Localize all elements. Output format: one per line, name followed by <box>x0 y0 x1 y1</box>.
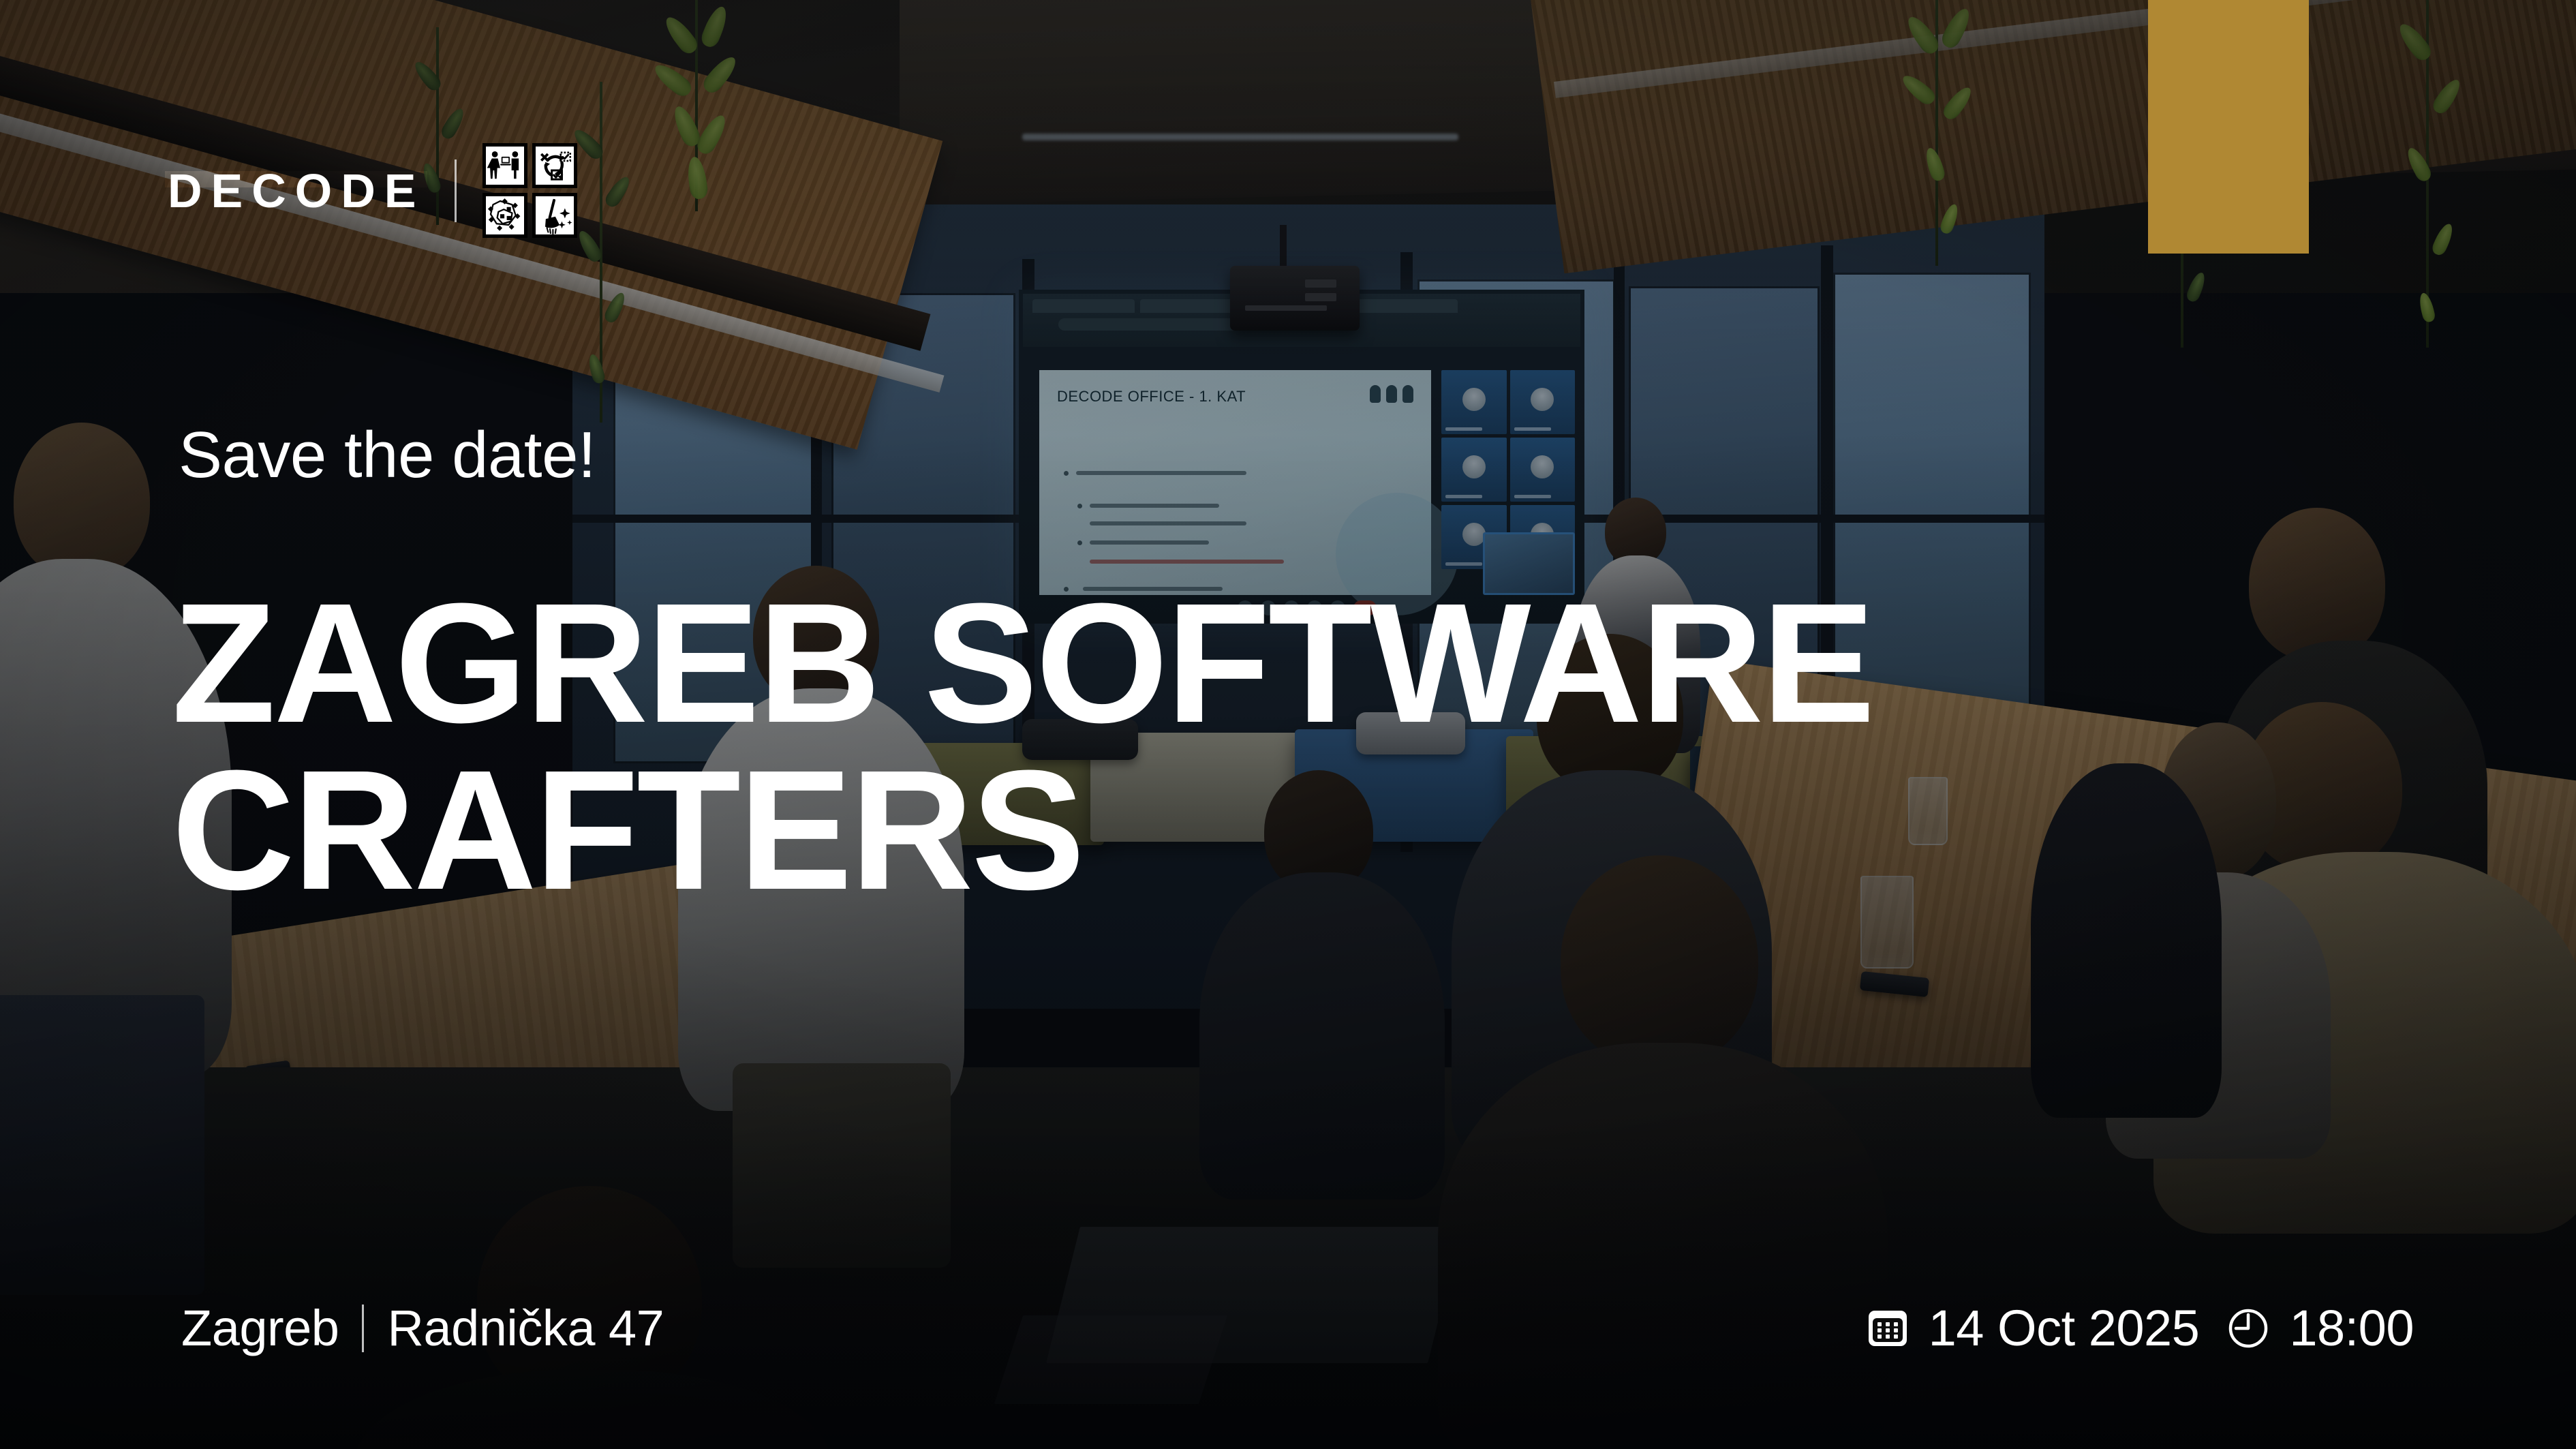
broom-sparkle-icon <box>532 193 577 238</box>
logo-icon-grid <box>482 143 577 238</box>
logo-divider <box>455 159 457 222</box>
slide-title: DECODE OFFICE - 1. KAT <box>1057 388 1246 406</box>
location-group: Zagreb Radnička 47 <box>181 1299 664 1357</box>
event-details-bar: Zagreb Radnička 47 <box>0 1299 2576 1360</box>
slide-avatars <box>1370 385 1413 403</box>
page-title: ZAGREB SOFTWARE CRAFTERS <box>172 579 1873 913</box>
title-line-1: ZAGREB SOFTWARE <box>172 579 1873 746</box>
drinking-glass <box>1908 777 1948 845</box>
city-label: Zagreb <box>181 1299 339 1357</box>
presentation-slide: DECODE OFFICE - 1. KAT <box>1039 370 1431 595</box>
date-group: 14 Oct 2025 <box>1866 1299 2200 1357</box>
calendar-icon <box>1866 1307 1910 1350</box>
event-poster: DECODE OFFICE - 1. KAT <box>0 0 2576 1449</box>
address-label: Radnička 47 <box>387 1299 664 1357</box>
ceiling-light-strip <box>1022 134 1458 140</box>
accent-bar <box>2148 0 2309 254</box>
location-divider <box>362 1305 364 1352</box>
people-with-laptop-icon <box>482 143 527 188</box>
clock-icon <box>2226 1307 2270 1350</box>
projector-mount <box>1280 225 1287 270</box>
event-date: 14 Oct 2025 <box>1929 1299 2200 1357</box>
event-time: 18:00 <box>2289 1299 2414 1357</box>
kicker-text: Save the date! <box>179 423 596 488</box>
datetime-group: 14 Oct 2025 18:00 <box>1866 1299 2414 1357</box>
polygon-cluster-icon <box>482 193 527 238</box>
time-group: 18:00 <box>2226 1299 2414 1357</box>
ceiling-projector <box>1230 266 1360 331</box>
decode-logo[interactable]: DECODE <box>168 143 577 238</box>
logo-wordmark: DECODE <box>168 167 425 215</box>
agile-cycle-checklist-icon <box>532 143 577 188</box>
title-line-2: CRAFTERS <box>172 746 1873 913</box>
